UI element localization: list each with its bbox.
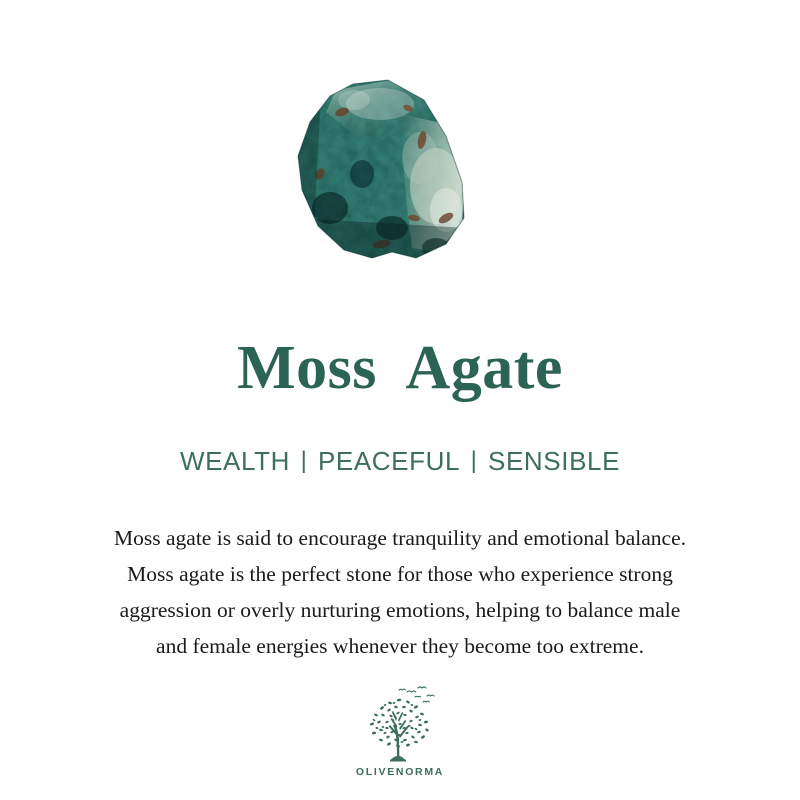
moss-agate-info-card: Moss Agate WEALTH | PEACEFUL | SENSIBLE … bbox=[0, 0, 800, 800]
keyword-separator: | bbox=[462, 446, 486, 476]
brand-logo: OLIVENORMA bbox=[0, 684, 800, 778]
keyword-peaceful: PEACEFUL bbox=[316, 445, 462, 478]
page-title: Moss Agate bbox=[0, 336, 800, 401]
description-paragraph: Moss agate is said to encourage tranquil… bbox=[40, 520, 760, 664]
keyword-separator: | bbox=[292, 446, 316, 476]
keyword-sensible: SENSIBLE bbox=[486, 445, 622, 478]
description-line: Moss agate is the perfect stone for thos… bbox=[40, 556, 760, 592]
description-line: Moss agate is said to encourage tranquil… bbox=[40, 520, 760, 556]
description-line: and female energies whenever they become… bbox=[40, 628, 760, 664]
olive-tree-icon bbox=[352, 684, 448, 764]
brand-wordmark: OLIVENORMA bbox=[356, 766, 444, 778]
keyword-list: WEALTH | PEACEFUL | SENSIBLE bbox=[0, 445, 800, 478]
moss-agate-stone-image bbox=[296, 78, 468, 264]
description-line: aggression or overly nurturing emotions,… bbox=[40, 592, 760, 628]
keyword-wealth: WEALTH bbox=[178, 445, 292, 478]
